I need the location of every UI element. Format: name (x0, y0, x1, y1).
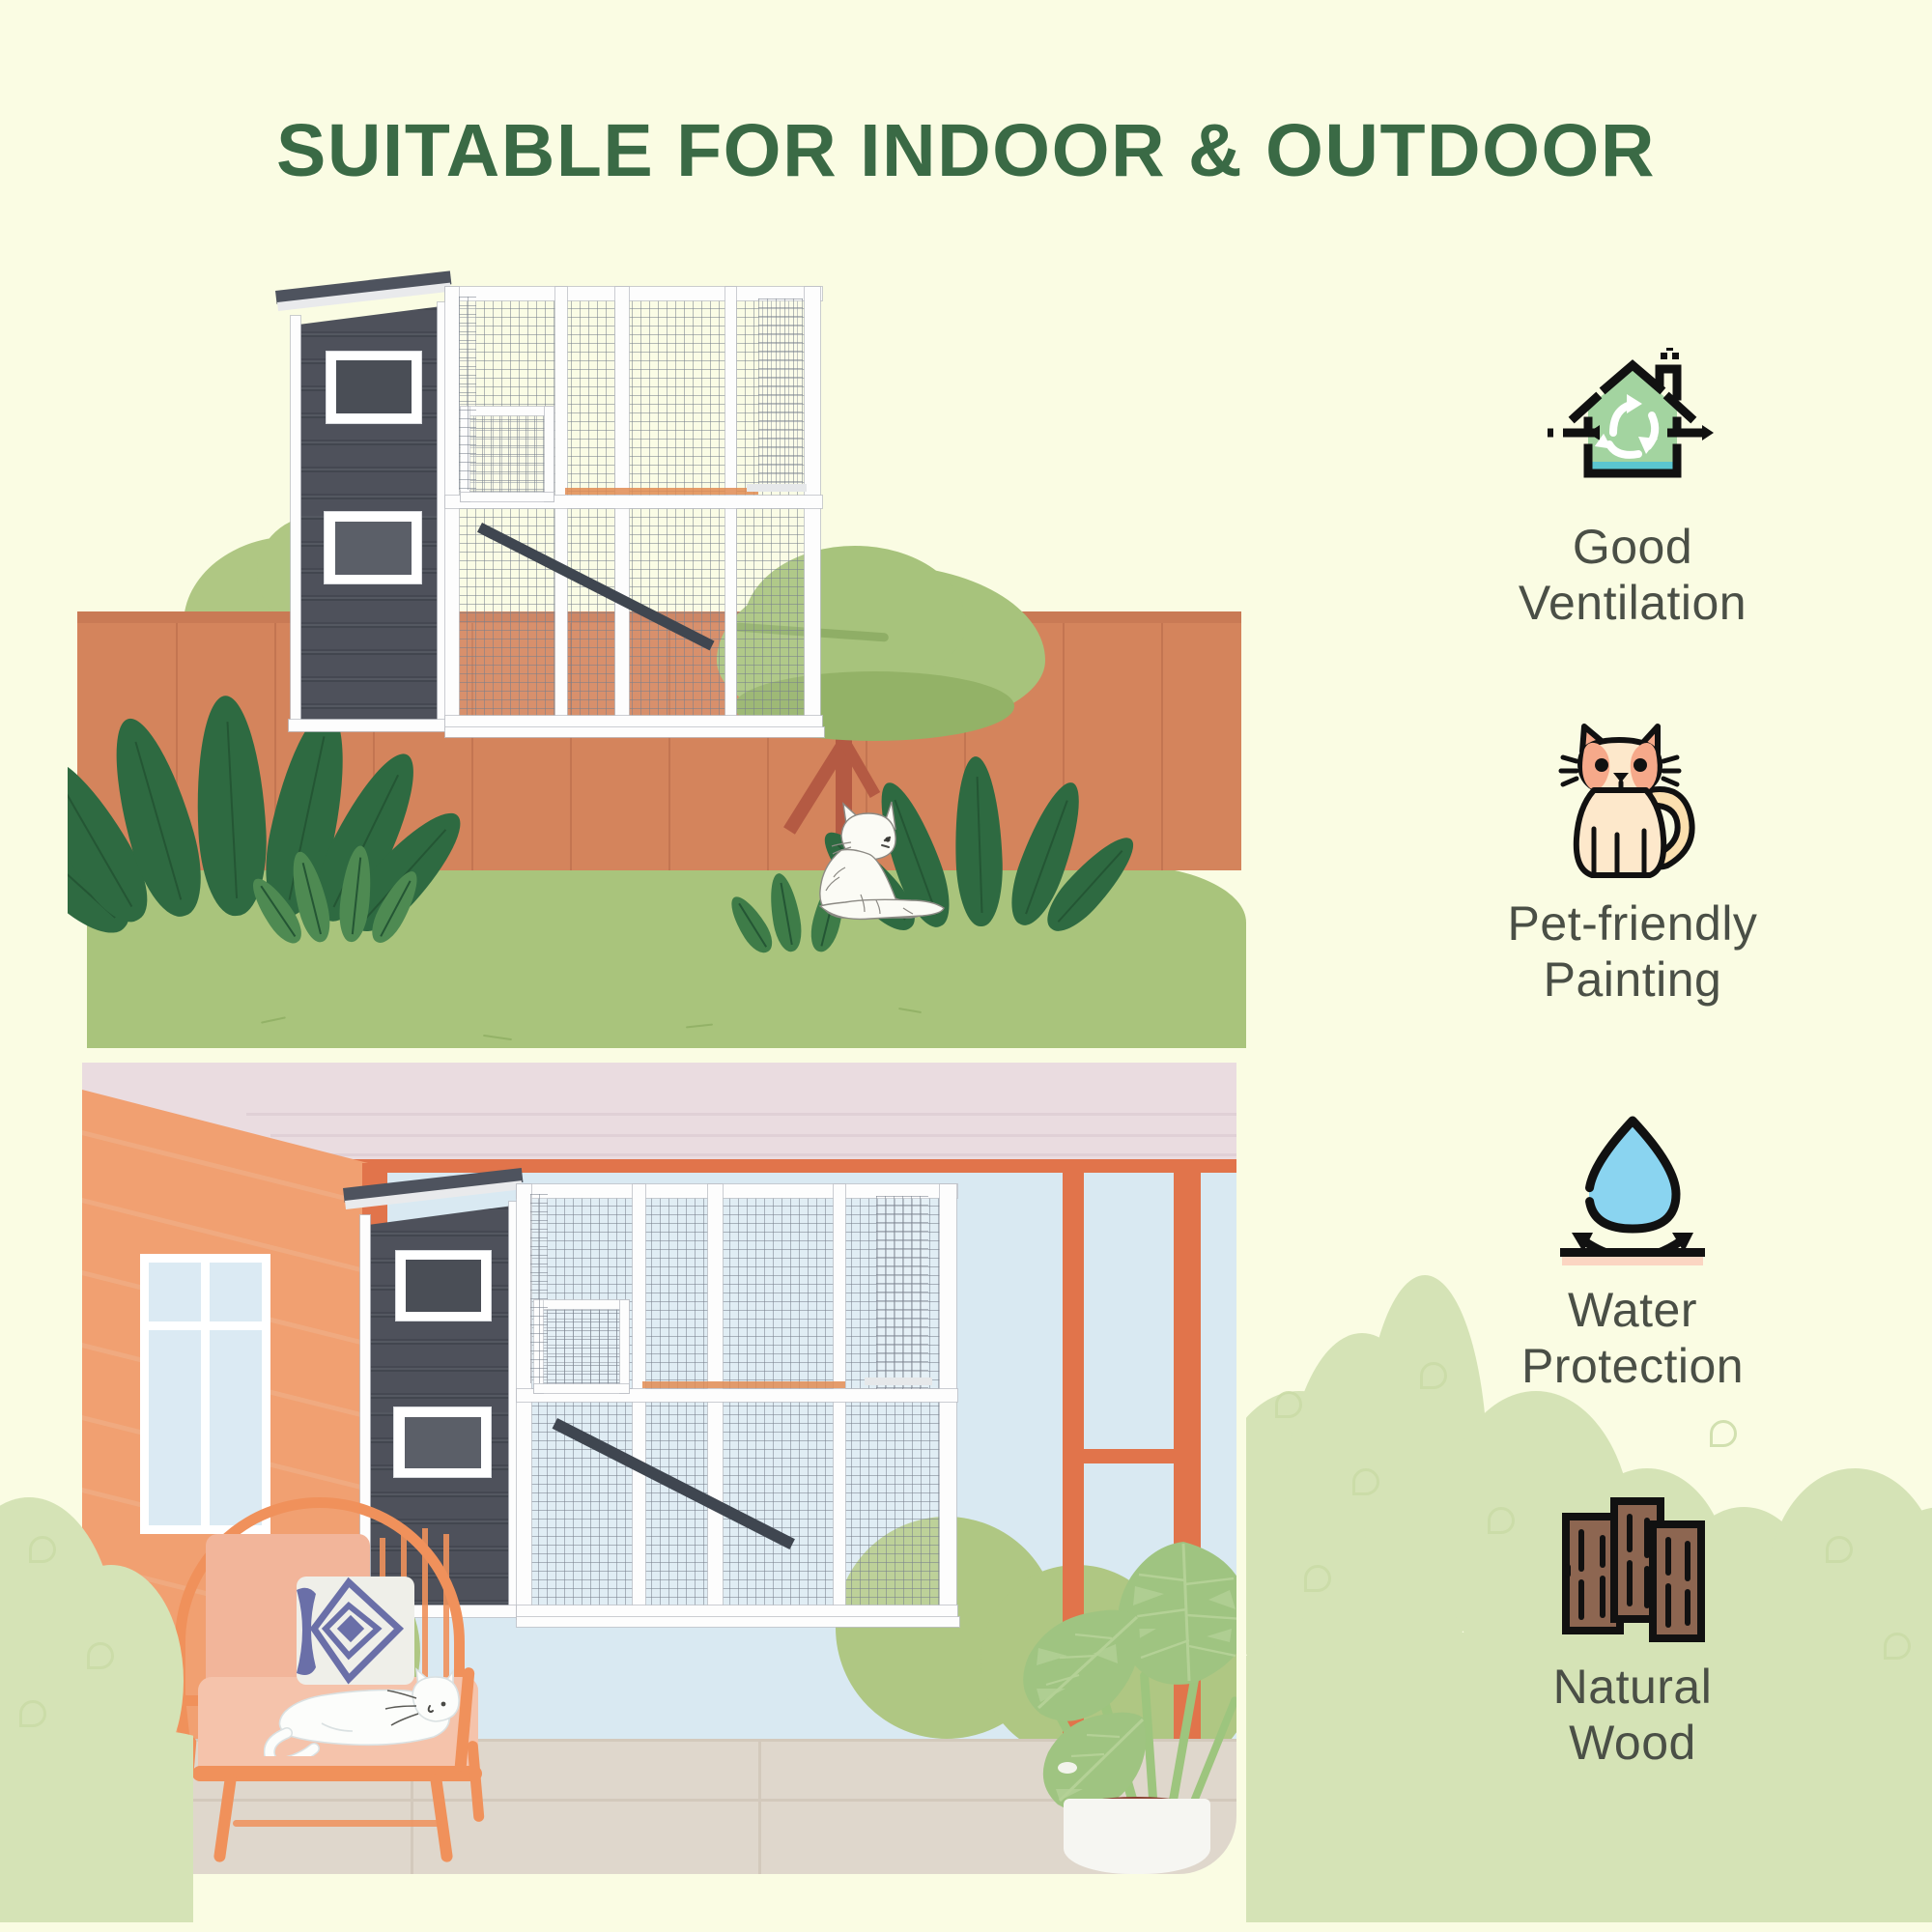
chair-leg-front-right (430, 1774, 454, 1863)
indoor-scene (82, 1063, 1236, 1874)
window-mullion-horizontal (140, 1321, 270, 1330)
catio-base-rail-outer (517, 1617, 959, 1627)
rattan-chair (169, 1488, 517, 1864)
feature-label: Good Ventilation (1362, 519, 1903, 631)
catio-product-outdoor (275, 270, 816, 926)
catio-window-lower-glass (335, 522, 412, 575)
decorative-background-bushes-left (0, 1381, 193, 1922)
feature-label: Pet-friendly Painting (1362, 895, 1903, 1008)
catio-door-open-frame-right (620, 1300, 629, 1393)
catio-run-post-2 (555, 287, 567, 729)
catio-rear-mesh-panel (876, 1196, 928, 1389)
catio-tray-strip (642, 1381, 845, 1388)
opening-rail-right (1063, 1449, 1201, 1463)
catio-window-upper-glass (336, 360, 412, 413)
catio-run-post-5 (805, 287, 820, 729)
catio-interior-divider-mesh (459, 297, 476, 490)
wood-planks-icon (1541, 1488, 1724, 1642)
catio-base-rail-outer (445, 727, 824, 737)
catio-run-post-3 (708, 1184, 723, 1619)
catio-run-post-1 (445, 287, 459, 729)
ceiling-plank-line (270, 1134, 1236, 1137)
catio-run-post-5 (940, 1184, 956, 1619)
ceiling-plank-line (246, 1113, 1236, 1116)
catio-shelf (865, 1378, 932, 1385)
cat-icon (1536, 715, 1729, 879)
feature-label: Natural Wood (1362, 1659, 1903, 1771)
potted-plant (1009, 1526, 1236, 1874)
catio-run-post-3 (615, 287, 629, 729)
poster-canvas: SUITABLE FOR INDOOR & OUTDOOR (0, 0, 1932, 1932)
catio-door-open-frame-top (534, 1300, 629, 1309)
page-title: SUITABLE FOR INDOOR & OUTDOOR (0, 114, 1932, 188)
catio-run-post-4 (725, 287, 736, 729)
catio-shelf (747, 484, 807, 492)
catio-corner-trim-left (291, 316, 300, 725)
ceiling-plank-line (290, 1153, 1236, 1156)
feature-label: Water Protection (1362, 1282, 1903, 1394)
catio-run-post-1 (517, 1184, 531, 1619)
sleeping-cat (264, 1652, 486, 1756)
chair-leg-front-left (213, 1774, 238, 1863)
catio-door-open-frame-bottom (534, 1384, 629, 1393)
plant-pot (1064, 1799, 1210, 1874)
feature-pet-friendly-painting: Pet-friendly Painting (1362, 715, 1903, 1008)
catio-run-post-2 (633, 1184, 645, 1619)
features-column: Good Ventilation (1362, 348, 1903, 1855)
feature-water-protection: Water Protection (1362, 1111, 1903, 1394)
chair-stretcher (233, 1820, 441, 1827)
water-drop-icon (1541, 1111, 1724, 1265)
outdoor-cat (787, 792, 952, 927)
feature-good-ventilation: Good Ventilation (1362, 348, 1903, 631)
catio-window-upper-glass (406, 1260, 481, 1312)
catio-rear-mesh-panel (758, 298, 803, 492)
catio-door-open-panel[interactable] (465, 411, 550, 497)
catio-window-lower-glass (405, 1417, 481, 1468)
house-ventilation-icon (1546, 348, 1719, 502)
outdoor-scene (68, 246, 1265, 1048)
catio-run-post-4 (834, 1184, 845, 1619)
feature-natural-wood: Natural Wood (1362, 1488, 1903, 1771)
catio-door-open-frame-bottom (461, 493, 554, 501)
catio-interior-divider-mesh (530, 1194, 548, 1383)
catio-door-open-frame-right (545, 407, 554, 501)
catio-door-open-panel[interactable] (538, 1304, 625, 1389)
catio-base-trim (289, 720, 451, 731)
catio-tray-strip (565, 488, 758, 495)
